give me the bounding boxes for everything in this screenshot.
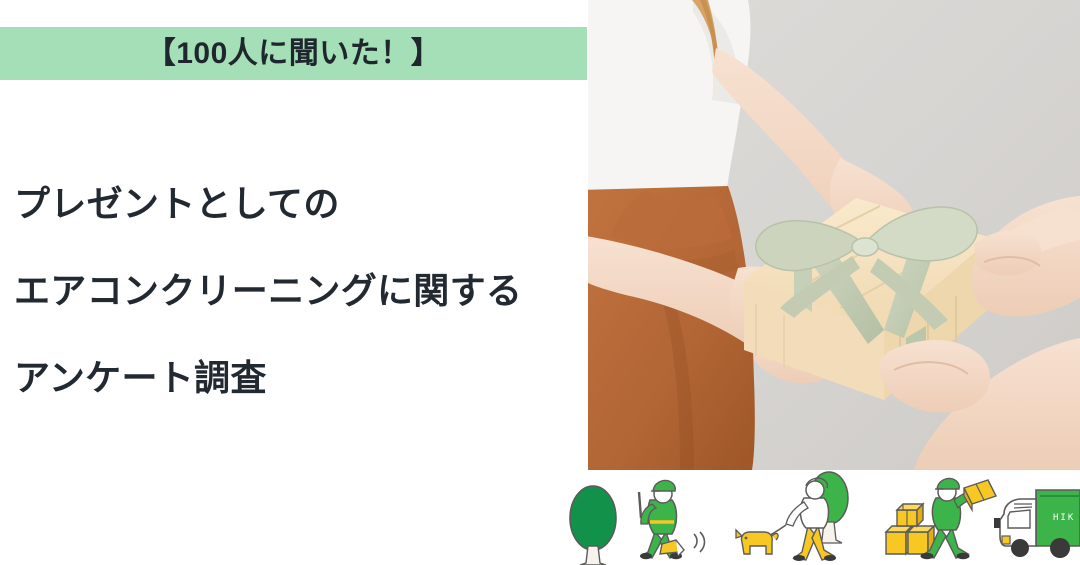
hero-photo <box>588 0 1080 470</box>
eyebrow-banner-text: 【100人に聞いた！】 <box>146 39 442 69</box>
truck-label: HIK <box>1053 513 1075 523</box>
page-title: プレゼントとしての エアコンクリーニングに関する アンケート調査 <box>14 160 584 421</box>
page-title-line-1: プレゼントとしての <box>14 160 584 247</box>
page-title-line-2: エアコンクリーニングに関する <box>14 247 584 334</box>
eyebrow-banner: 【100人に聞いた！】 <box>0 27 587 80</box>
illustration-strip: HIK <box>0 470 1080 565</box>
poster-canvas: 【100人に聞いた！】 プレゼントとしての エアコンクリーニングに関する アンケ… <box>0 0 1080 565</box>
page-title-line-3: アンケート調査 <box>14 334 584 421</box>
